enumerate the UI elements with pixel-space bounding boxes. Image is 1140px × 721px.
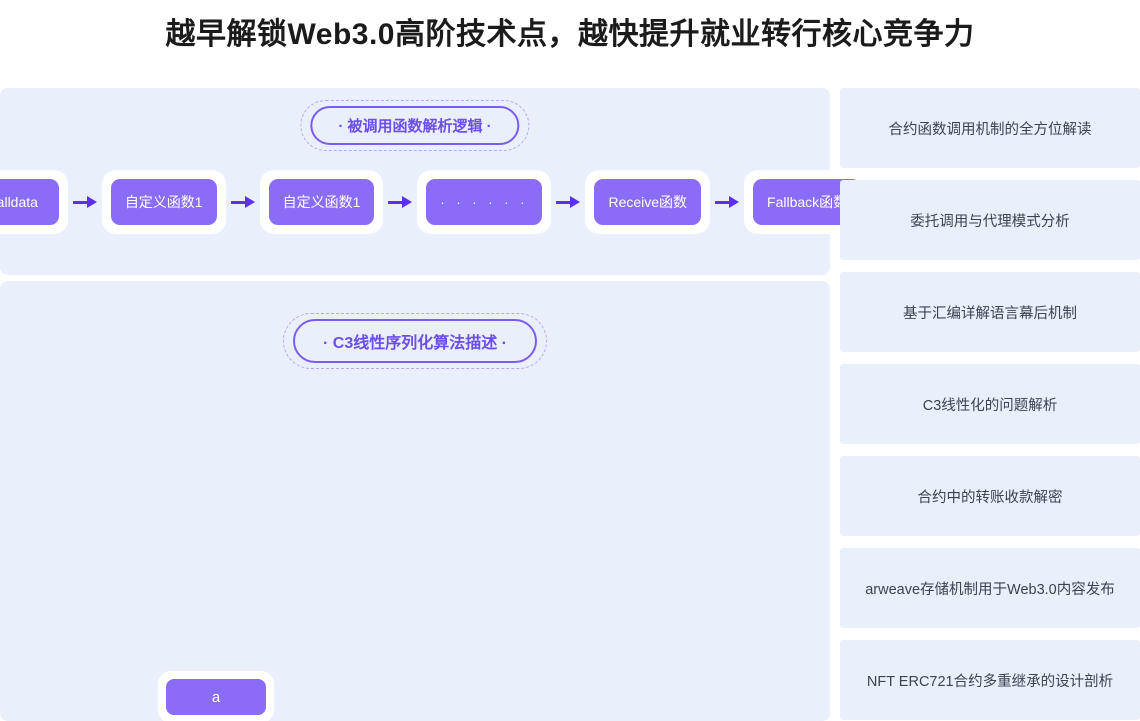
flow-node-ellipsis[interactable]: · · · · · · <box>417 170 551 234</box>
graph-node-a[interactable]: a <box>158 671 274 721</box>
arrow-right-icon <box>710 192 744 212</box>
flow-section-badge: · 被调用函数解析逻辑 · <box>300 100 529 151</box>
sidebar-item-contract-call-mechanism[interactable]: 合约函数调用机制的全方位解读 <box>840 88 1140 168</box>
flow-node-receive[interactable]: Receive函数 <box>585 170 710 234</box>
flow-node-label: calldata <box>0 179 59 225</box>
graph-node-label: a <box>166 679 266 715</box>
sidebar-item-arweave-storage[interactable]: arweave存储机制用于Web3.0内容发布 <box>840 548 1140 628</box>
page-title: 越早解锁Web3.0高阶技术点，越快提升就业转行核心竞争力 <box>166 9 975 53</box>
flow-node-label: Receive函数 <box>594 179 701 225</box>
slide-root: 越早解锁Web3.0高阶技术点，越快提升就业转行核心竞争力 · 被调用函数解析逻… <box>0 0 1140 721</box>
sidebar-item-transfer-receive[interactable]: 合约中的转账收款解密 <box>840 456 1140 536</box>
arrow-right-icon <box>226 192 260 212</box>
arrow-right-icon <box>383 192 417 212</box>
sidebar-item-assembly-internals[interactable]: 基于汇编详解语言幕后机制 <box>840 272 1140 352</box>
arrow-right-icon <box>68 192 102 212</box>
flow-node-calldata[interactable]: calldata <box>0 170 68 234</box>
arrow-right-icon <box>551 192 585 212</box>
inheritance-graph <box>0 371 420 671</box>
function-resolution-chain: calldata 自定义函数1 自定义函数1 · · · · · · Recei… <box>0 170 830 234</box>
sidebar-item-delegatecall-proxy[interactable]: 委托调用与代理模式分析 <box>840 180 1140 260</box>
flow-section-badge-label: · 被调用函数解析逻辑 · <box>310 106 519 145</box>
flow-node-label: 自定义函数1 <box>111 179 217 225</box>
flow-node-custom-1[interactable]: 自定义函数1 <box>102 170 226 234</box>
flow-node-custom-2[interactable]: 自定义函数1 <box>260 170 384 234</box>
title-bar: 越早解锁Web3.0高阶技术点，越快提升就业转行核心竞争力 <box>0 0 1140 62</box>
flow-section-panel: · 被调用函数解析逻辑 · calldata 自定义函数1 自定义函数1 · ·… <box>0 88 830 275</box>
topics-sidebar: 合约函数调用机制的全方位解读 委托调用与代理模式分析 基于汇编详解语言幕后机制 … <box>840 88 1140 721</box>
c3-section-badge-label: · C3线性序列化算法描述 · <box>293 319 537 363</box>
sidebar-item-c3-linearization[interactable]: C3线性化的问题解析 <box>840 364 1140 444</box>
c3-section-badge: · C3线性序列化算法描述 · <box>283 313 547 369</box>
sidebar-item-nft-erc721-inheritance[interactable]: NFT ERC721合约多重继承的设计剖析 <box>840 640 1140 720</box>
flow-node-label: · · · · · · <box>426 179 542 225</box>
c3-section-panel: · C3线性序列化算法描述 · a b c <box>0 281 830 721</box>
flow-node-label: 自定义函数1 <box>269 179 375 225</box>
